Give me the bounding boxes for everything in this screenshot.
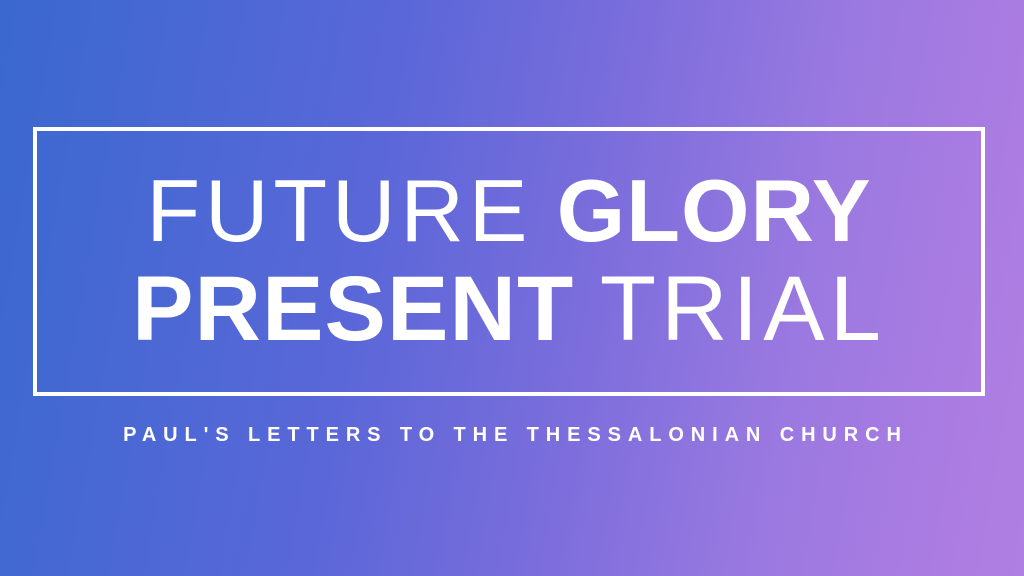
title-text-block: FUTURE GLORY PRESENT TRIAL: [37, 131, 981, 392]
title-word-future: FUTURE: [146, 161, 532, 260]
title-line-1-space: [532, 161, 556, 260]
subtitle-text: PAUL'S LETTERS TO THE THESSALONIAN CHURC…: [0, 424, 1024, 447]
title-word-glory: GLORY: [557, 161, 872, 260]
title-line-2: PRESENT TRIAL: [132, 261, 886, 359]
title-slide: FUTURE GLORY PRESENT TRIAL PAUL'S LETTER…: [0, 0, 1024, 576]
title-word-trial: TRIAL: [600, 258, 886, 360]
title-frame-border: FUTURE GLORY PRESENT TRIAL: [33, 127, 985, 396]
title-line-2-space: [574, 258, 600, 360]
title-word-present: PRESENT: [132, 258, 574, 360]
title-line-1: FUTURE GLORY: [146, 164, 871, 261]
